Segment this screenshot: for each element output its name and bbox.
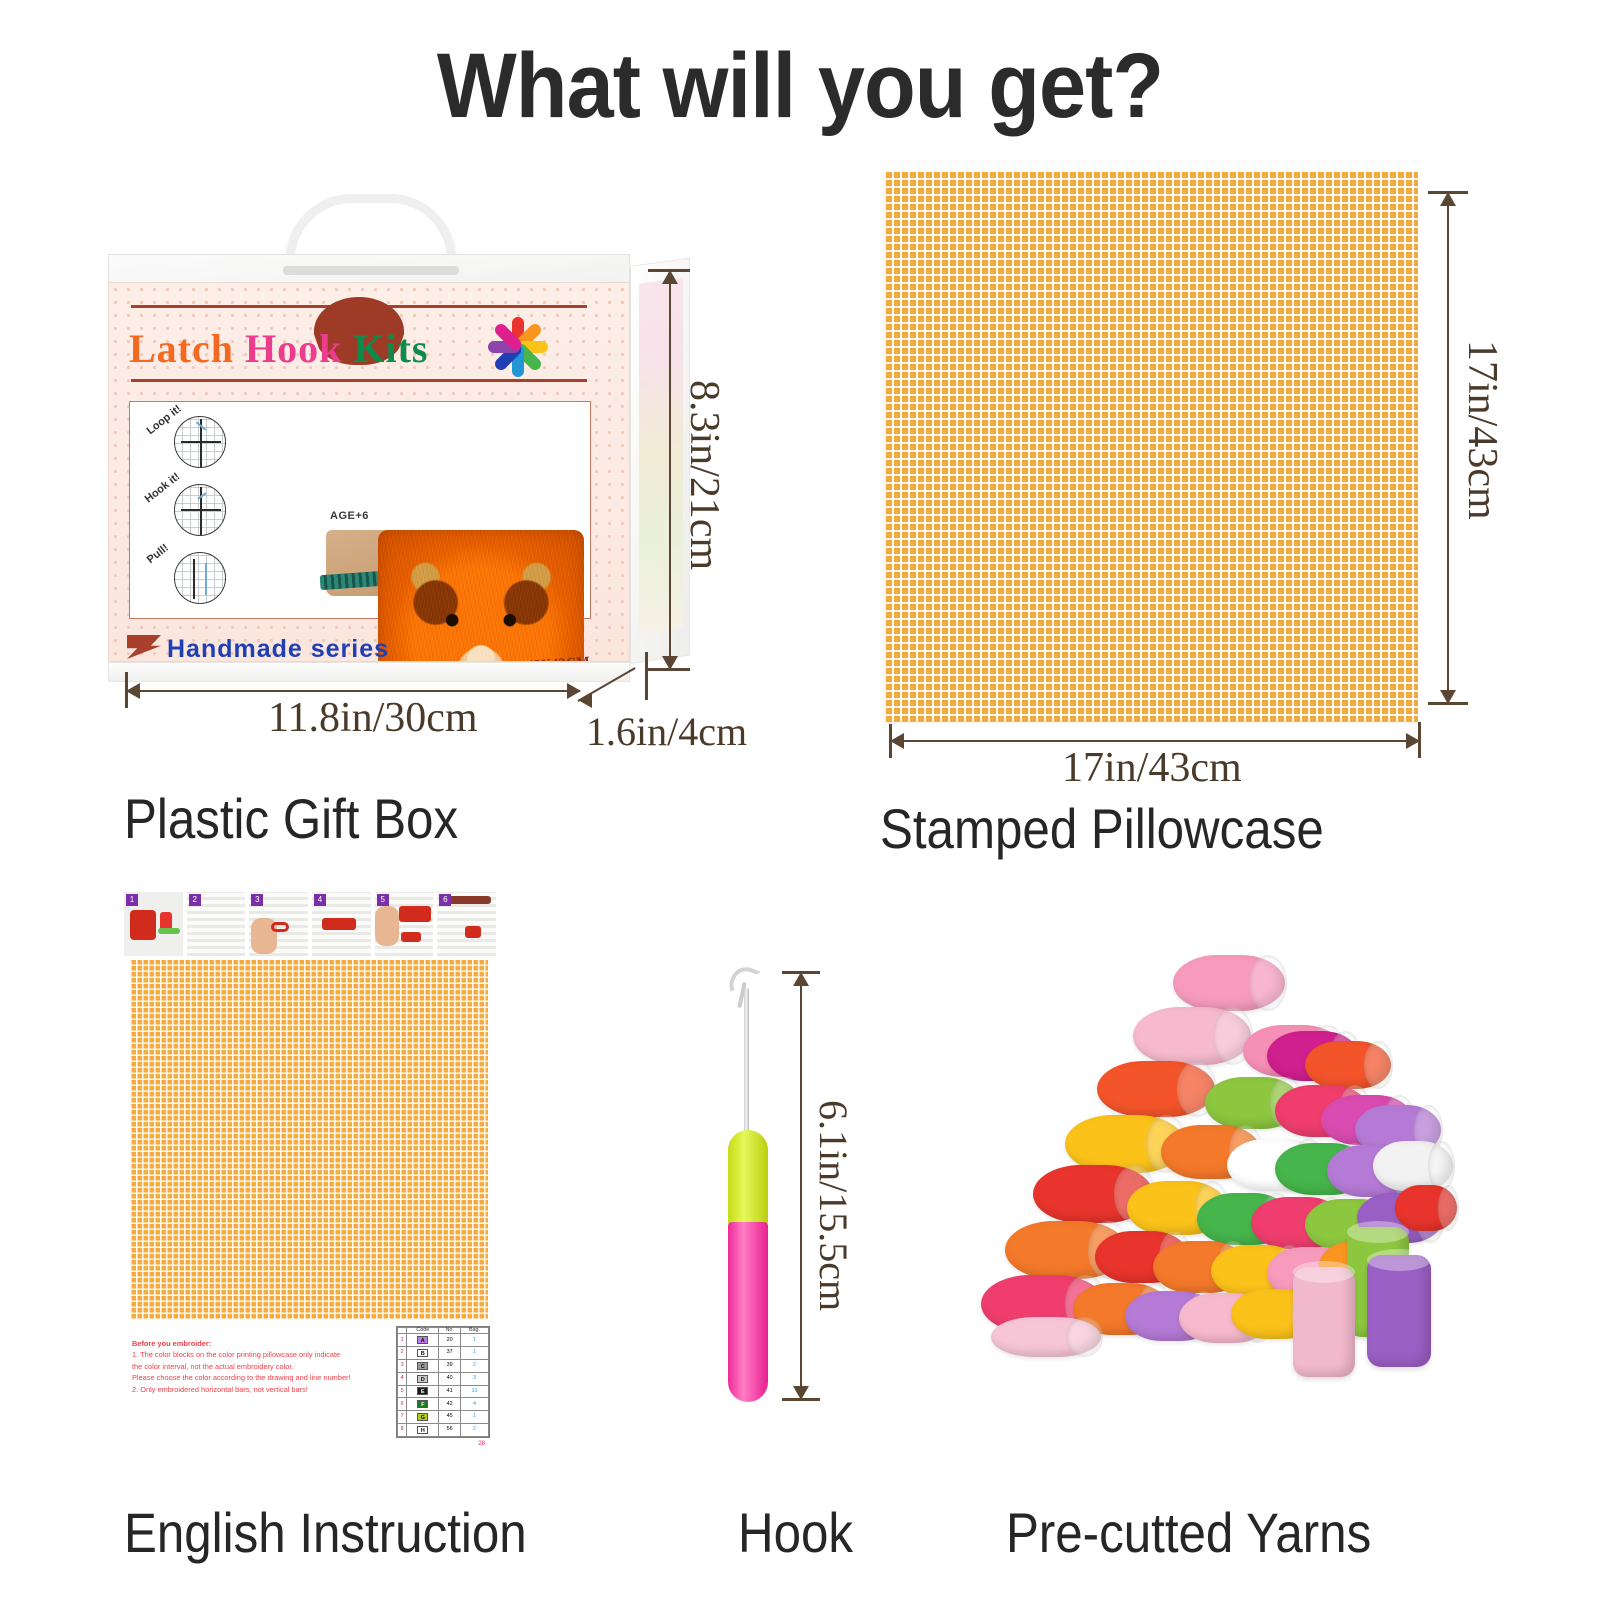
cell-code: C — [407, 1360, 439, 1373]
pre-cutted-yarns-panel — [975, 945, 1455, 1415]
hook-handle-lower — [728, 1222, 768, 1402]
instruction-note-line: Please choose the color according to the… — [132, 1372, 382, 1383]
box-step-diagram-hook — [174, 484, 226, 536]
yarn-bundle — [1133, 1007, 1251, 1065]
box-artwork-card: Loop it! Hook it! Pull! AGE+6 — [129, 401, 591, 619]
step-number-badge: 2 — [189, 894, 201, 906]
instruction-note-title: Before you embroider: — [132, 1338, 382, 1349]
color-chip: D — [417, 1375, 428, 1383]
cell-code: D — [407, 1372, 439, 1385]
stamped-pillowcase-panel — [884, 172, 1418, 724]
yarn-bundle-upright — [1367, 1255, 1431, 1367]
instruction-step-photo: 1 — [124, 892, 183, 956]
box-width-label: 11.8in/30cm — [268, 694, 478, 742]
cell-bag: 2 — [461, 1424, 489, 1437]
brand-word-latch: Latch — [129, 326, 234, 371]
color-code-table: Code No. Bag. 1A2012B3713C3924D4035E4110… — [396, 1326, 490, 1438]
cell-no: 41 — [439, 1385, 461, 1398]
instruction-note-line: 2. Only embroidered horizontal bars, not… — [132, 1384, 382, 1395]
instruction-note-line: 1. The color blocks on the color printin… — [132, 1349, 382, 1360]
table-row: 3C392 — [398, 1360, 489, 1373]
box-side-contents — [639, 278, 683, 634]
cell-index: 6 — [398, 1398, 407, 1411]
instruction-step-photo: 3 — [249, 892, 308, 956]
caption-pre-cutted-yarns: Pre-cutted Yarns — [1006, 1500, 1371, 1565]
cell-bag: 1 — [461, 1334, 489, 1347]
color-chip: H — [417, 1426, 428, 1434]
cell-bag: 4 — [461, 1398, 489, 1411]
instruction-step-photo: 2 — [187, 892, 246, 956]
caption-hook: Hook — [738, 1500, 853, 1565]
box-front-face: Latch Hook Kits Loop it! Hook it! — [108, 282, 630, 662]
instruction-cow-motif — [130, 960, 488, 1320]
cow-fur-texture — [378, 530, 584, 662]
pillowcase-canvas — [884, 172, 1418, 724]
cell-index: 3 — [398, 1360, 407, 1373]
cell-no: 45 — [439, 1411, 461, 1424]
handmade-series-label: Handmade series — [167, 635, 389, 662]
instruction-note-line: the color interval, not the actual embro… — [132, 1361, 382, 1372]
instruction-note-block: Before you embroider: 1. The color block… — [132, 1338, 382, 1395]
cell-no: 20 — [439, 1334, 461, 1347]
table-row: 5E4110 — [398, 1385, 489, 1398]
cell-index: 4 — [398, 1372, 407, 1385]
table-row: 1A201 — [398, 1334, 489, 1347]
yarn-bundle — [1305, 1041, 1391, 1089]
hook-handle-upper — [728, 1130, 768, 1226]
age-label: AGE+6 — [330, 510, 369, 522]
cell-no: 56 — [439, 1424, 461, 1437]
pillow-width-label: 17in/43cm — [1062, 744, 1242, 792]
yarn-bundle — [1097, 1061, 1215, 1117]
box-step-diagram-pull — [174, 552, 226, 604]
cell-code: E — [407, 1385, 439, 1398]
color-chip: G — [417, 1413, 428, 1421]
brand-title: Latch Hook Kits — [129, 325, 489, 372]
box-step-label-pull: Pull! — [145, 542, 171, 566]
english-instruction-panel: 1 2 3 4 5 6 — [124, 892, 496, 1482]
step-number-badge: 3 — [251, 894, 263, 906]
cell-code: F — [407, 1398, 439, 1411]
instruction-chart-canvas — [130, 960, 488, 1320]
caption-stamped-pillowcase: Stamped Pillowcase — [880, 796, 1324, 861]
table-row: 8H562 — [398, 1424, 489, 1437]
gift-box-panel: Latch Hook Kits Loop it! Hook it! — [108, 196, 668, 696]
cell-index: 1 — [398, 1334, 407, 1347]
instruction-step-photo: 4 — [312, 892, 371, 956]
color-chip: F — [417, 1400, 428, 1408]
cell-code: B — [407, 1347, 439, 1360]
caption-english-instruction: English Instruction — [124, 1500, 527, 1565]
box-step-diagram-loop — [174, 416, 226, 468]
cell-no: 39 — [439, 1360, 461, 1373]
step-number-badge: 6 — [439, 894, 451, 906]
yarn-bundle — [1373, 1141, 1453, 1191]
box-bottom-edge — [108, 662, 630, 682]
table-row: 7G451 — [398, 1411, 489, 1424]
step-number-badge: 5 — [377, 894, 389, 906]
step-number-badge: 1 — [126, 894, 138, 906]
yarn-bundle — [1173, 955, 1285, 1011]
brand-word-hook: Hook — [245, 326, 342, 371]
instruction-step-photos: 1 2 3 4 5 6 — [124, 892, 496, 956]
caption-plastic-gift-box: Plastic Gift Box — [124, 786, 458, 851]
instruction-step-photo: 6 — [437, 892, 496, 956]
brand-word-kits: Kits — [353, 326, 428, 371]
box-height-label: 8.3in/21cm — [680, 380, 728, 570]
cell-no: 40 — [439, 1372, 461, 1385]
table-row: 2B371 — [398, 1347, 489, 1360]
yarn-bundle — [1395, 1185, 1457, 1231]
cell-bag: 1 — [461, 1347, 489, 1360]
cell-code: H — [407, 1424, 439, 1437]
box-handle-slot — [283, 266, 459, 275]
cell-bag: 3 — [461, 1372, 489, 1385]
color-chip: B — [417, 1349, 428, 1357]
color-chip: E — [417, 1387, 428, 1395]
cow-printed-motif — [884, 172, 1418, 724]
pinwheel-logo-icon — [481, 311, 555, 383]
color-chip: A — [417, 1336, 428, 1344]
box-handle-icon — [286, 194, 456, 260]
cell-index: 7 — [398, 1411, 407, 1424]
handmade-ribbon-icon — [127, 635, 161, 659]
cell-index: 8 — [398, 1424, 407, 1437]
page-title: What will you get? — [64, 34, 1536, 139]
instruction-step-photo: 5 — [375, 892, 434, 956]
cell-no: 42 — [439, 1398, 461, 1411]
cell-index: 2 — [398, 1347, 407, 1360]
box-depth-label: 1.6in/4cm — [586, 708, 747, 755]
cell-bag: 10 — [461, 1385, 489, 1398]
cell-no: 37 — [439, 1347, 461, 1360]
hook-length-label: 6.1in/15.5cm — [810, 1100, 857, 1311]
cell-bag: 2 — [461, 1360, 489, 1373]
cell-index: 5 — [398, 1385, 407, 1398]
cell-bag: 1 — [461, 1411, 489, 1424]
color-table-total: 28 — [478, 1441, 485, 1447]
color-chip: C — [417, 1362, 428, 1370]
yarn-bundle — [991, 1317, 1101, 1357]
table-row: 4D403 — [398, 1372, 489, 1385]
cell-code: A — [407, 1334, 439, 1347]
pillow-height-label: 17in/43cm — [1458, 340, 1506, 520]
cell-code: G — [407, 1411, 439, 1424]
finished-pillow-photo — [378, 530, 584, 662]
step-number-badge: 4 — [314, 894, 326, 906]
table-row: 6F424 — [398, 1398, 489, 1411]
hook-shaft — [744, 988, 749, 1138]
yarn-bundle-upright — [1293, 1267, 1355, 1377]
